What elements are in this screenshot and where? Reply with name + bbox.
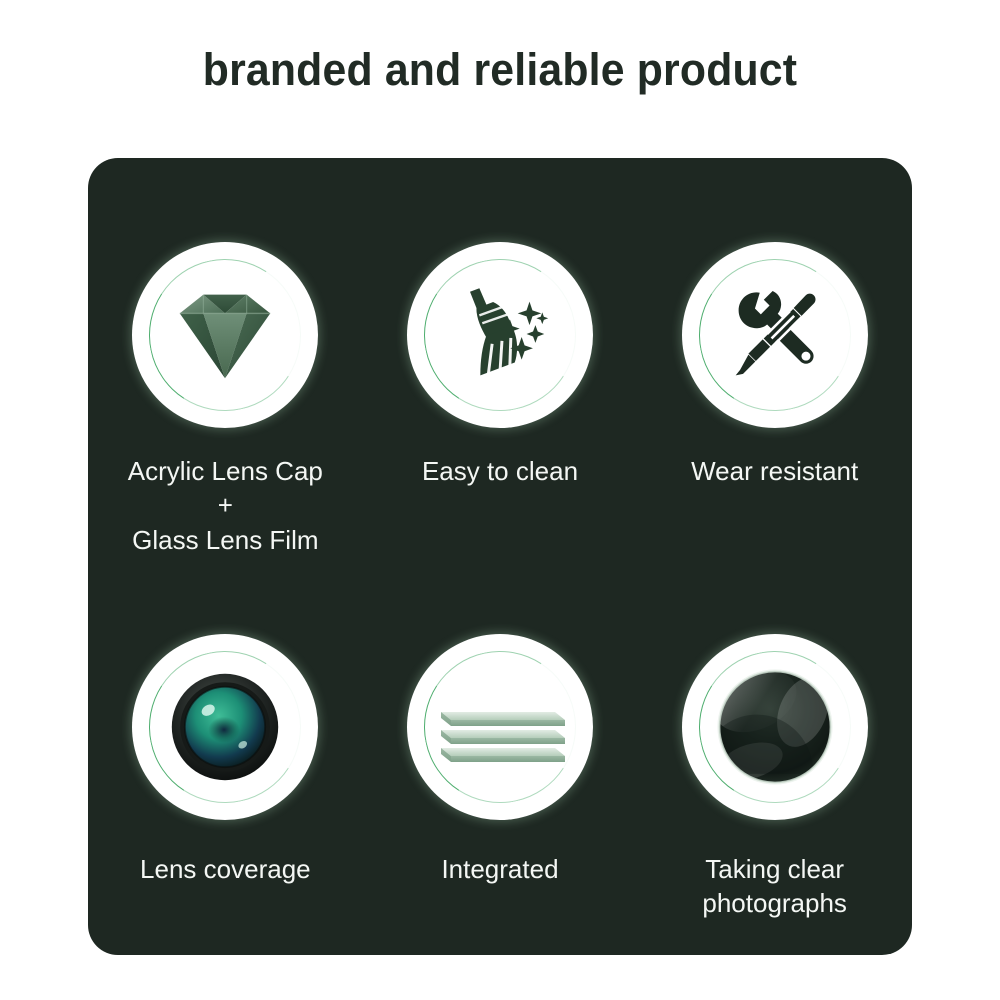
feature-label: Integrated — [441, 852, 558, 886]
icon-circle — [407, 634, 593, 820]
stacked-glass-layers-icon — [425, 652, 575, 802]
feature-item-taking-clear-photographs: Taking clear photographs — [637, 557, 912, 955]
feature-item-easy-to-clean: Easy to clean — [363, 158, 638, 557]
broom-sparkle-icon — [441, 276, 559, 394]
feature-label: Easy to clean — [422, 454, 578, 488]
icon-circle — [132, 634, 318, 820]
feature-item-acrylic-lens-cap: Acrylic Lens Cap + Glass Lens Film — [88, 158, 363, 557]
feature-card: Acrylic Lens Cap + Glass Lens Film — [88, 158, 912, 955]
page-title: branded and reliable product — [25, 44, 975, 96]
feature-label: Lens coverage — [140, 852, 311, 886]
icon-circle — [407, 242, 593, 428]
camera-lens-icon — [169, 671, 281, 783]
icon-circle — [682, 634, 868, 820]
icon-circle — [682, 242, 868, 428]
feature-label: Acrylic Lens Cap + Glass Lens Film — [128, 454, 323, 557]
feature-label: Wear resistant — [691, 454, 858, 488]
feature-item-lens-coverage: Lens coverage — [88, 557, 363, 955]
feature-item-wear-resistant: Wear resistant — [637, 158, 912, 557]
icon-circle — [132, 242, 318, 428]
feature-label: Taking clear photographs — [637, 852, 912, 921]
feature-item-integrated: Integrated — [363, 557, 638, 955]
wrench-screwdriver-icon — [716, 276, 834, 394]
glass-dome-icon — [711, 663, 839, 791]
feature-grid: Acrylic Lens Cap + Glass Lens Film — [88, 158, 912, 955]
diamond-gem-icon — [166, 276, 284, 394]
